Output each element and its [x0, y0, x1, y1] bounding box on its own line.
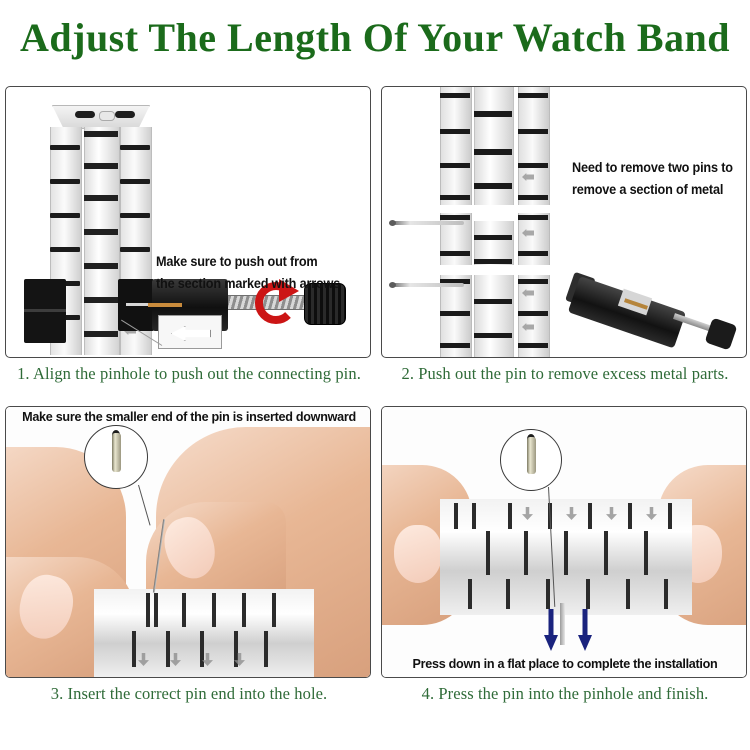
band-link-edge [166, 631, 170, 667]
left-arrow-icon [171, 326, 211, 341]
band-link-center [474, 149, 512, 155]
band-link [518, 215, 548, 220]
band-link [50, 247, 80, 252]
step-2-panel: Need to remove two pins to remove a sect… [381, 86, 747, 358]
band-link [518, 343, 548, 348]
band-link [518, 163, 548, 168]
band-link-edge [506, 579, 510, 609]
band-link-edge [146, 593, 150, 627]
overlay-line: remove a section of metal [572, 179, 733, 201]
band-link-edge [524, 531, 528, 575]
arrow-marking-callout [158, 315, 222, 349]
band-segment-upper [440, 87, 552, 205]
tool-jaw-left [24, 279, 66, 343]
step-1-overlay-text: Make sure to push out from the section m… [156, 251, 340, 295]
lug-notch [99, 111, 115, 121]
band-link [440, 343, 470, 348]
band-link-center [474, 235, 512, 240]
band-link [120, 247, 150, 252]
band-link [120, 145, 150, 150]
pin-protruding [560, 603, 565, 645]
step-4-banner-text: Press down in a flat place to complete t… [387, 656, 742, 671]
lug-slot-left [75, 111, 95, 118]
band-segment-lower [440, 275, 552, 358]
pin-body [527, 437, 536, 474]
step-4-cell: Press down in a flat place to complete t… [381, 406, 749, 704]
band-link-edge [644, 531, 648, 575]
band-link-center [84, 297, 118, 303]
band-link-edge [604, 531, 608, 575]
band-link [120, 213, 150, 218]
steps-grid: Make sure to push out from the section m… [0, 86, 750, 726]
band-link-edge [212, 593, 216, 627]
blue-down-arrow-icon [544, 609, 558, 651]
band-link [518, 311, 548, 316]
band-link-center [84, 131, 118, 137]
band-link-edge [132, 631, 136, 667]
removed-pin [392, 283, 464, 287]
magnifier-circle-icon [500, 429, 562, 491]
band-column-middle [474, 275, 514, 358]
tool-knob [704, 317, 737, 350]
band-column-right [518, 213, 550, 265]
magnifier-circle-icon [84, 425, 148, 489]
removed-pin [392, 221, 464, 225]
step-2-overlay-text: Need to remove two pins to remove a sect… [572, 157, 733, 201]
magnifier-leader-line [138, 485, 151, 526]
band-link-edge [546, 579, 550, 609]
band-link-edge [588, 503, 592, 529]
band-link [518, 251, 548, 256]
band-link-center [84, 163, 118, 169]
band-link [440, 215, 470, 220]
band-link-edge [272, 593, 276, 627]
band-link [50, 213, 80, 218]
pin-body [112, 433, 121, 471]
step-2-caption: 2. Push out the pin to remove excess met… [381, 364, 749, 384]
band-link [518, 195, 548, 200]
pin-shaft [126, 303, 150, 306]
band-link [50, 145, 80, 150]
band-link-center [474, 333, 512, 338]
thumbnail [394, 525, 442, 583]
instruction-sheet: Adjust The Length Of Your Watch Band [0, 0, 750, 750]
pin-brass-tip [148, 303, 182, 307]
band-link-edge [468, 579, 472, 609]
band-link [50, 179, 80, 184]
band-link-edge [664, 579, 668, 609]
overlay-line: Make sure to push out from [156, 251, 340, 273]
overlay-line: the section marked with arrows [156, 273, 340, 295]
step-3-banner-text: Make sure the smaller end of the pin is … [11, 409, 366, 424]
band-link [440, 251, 470, 256]
band-link-edge [626, 579, 630, 609]
step-4-caption: 4. Press the pin into the pinhole and fi… [381, 684, 749, 704]
watch-lug-adapter [52, 105, 150, 129]
step-4-photo [382, 407, 747, 677]
step-3-photo [6, 407, 371, 677]
band-link [440, 195, 470, 200]
step-3-panel: Make sure the smaller end of the pin is … [5, 406, 371, 678]
band-link-edge [508, 503, 512, 529]
band-link [440, 129, 470, 134]
lug-slot-right [115, 111, 135, 118]
band-link-center [474, 259, 512, 264]
band-link [440, 93, 470, 98]
overlay-line: Need to remove two pins to [572, 157, 733, 179]
band-column-right [518, 87, 550, 205]
step-1-caption: 1. Align the pinhole to push out the con… [5, 364, 373, 384]
band-link-center [474, 183, 512, 189]
band-link-edge [486, 531, 490, 575]
band-link [518, 129, 548, 134]
watch-band [94, 589, 314, 677]
band-link-edge [264, 631, 268, 667]
blue-down-arrow-icon [578, 609, 592, 651]
band-link-edge [564, 531, 568, 575]
step-2-cell: Need to remove two pins to remove a sect… [381, 86, 749, 384]
band-column-middle [84, 127, 120, 355]
band-column-left [440, 87, 472, 205]
step-3-caption: 3. Insert the correct pin end into the h… [5, 684, 373, 704]
band-link-center [474, 299, 512, 304]
band-link-edge [668, 503, 672, 529]
step-4-panel: Press down in a flat place to complete t… [381, 406, 747, 678]
band-link-edge [182, 593, 186, 627]
band-link-center [84, 195, 118, 201]
tool-body [568, 276, 686, 348]
band-link-edge [154, 593, 158, 627]
band-link-center [474, 111, 512, 117]
step-1-panel: Make sure to push out from the section m… [5, 86, 371, 358]
band-link-edge [586, 579, 590, 609]
band-link [440, 163, 470, 168]
band-link [518, 93, 548, 98]
band-link-edge [242, 593, 246, 627]
band-link-edge [454, 503, 458, 529]
band-link-center [84, 229, 118, 235]
band-link-center [84, 331, 118, 337]
page-title: Adjust The Length Of Your Watch Band [0, 14, 750, 61]
step-1-cell: Make sure to push out from the section m… [5, 86, 373, 384]
step-3-cell: Make sure the smaller end of the pin is … [5, 406, 373, 704]
band-link-center [84, 263, 118, 269]
band-link-edge [472, 503, 476, 529]
band-link [518, 279, 548, 284]
band-link [440, 311, 470, 316]
band-link-edge [628, 503, 632, 529]
pin-removal-tool-icon [570, 257, 730, 353]
band-link [120, 179, 150, 184]
